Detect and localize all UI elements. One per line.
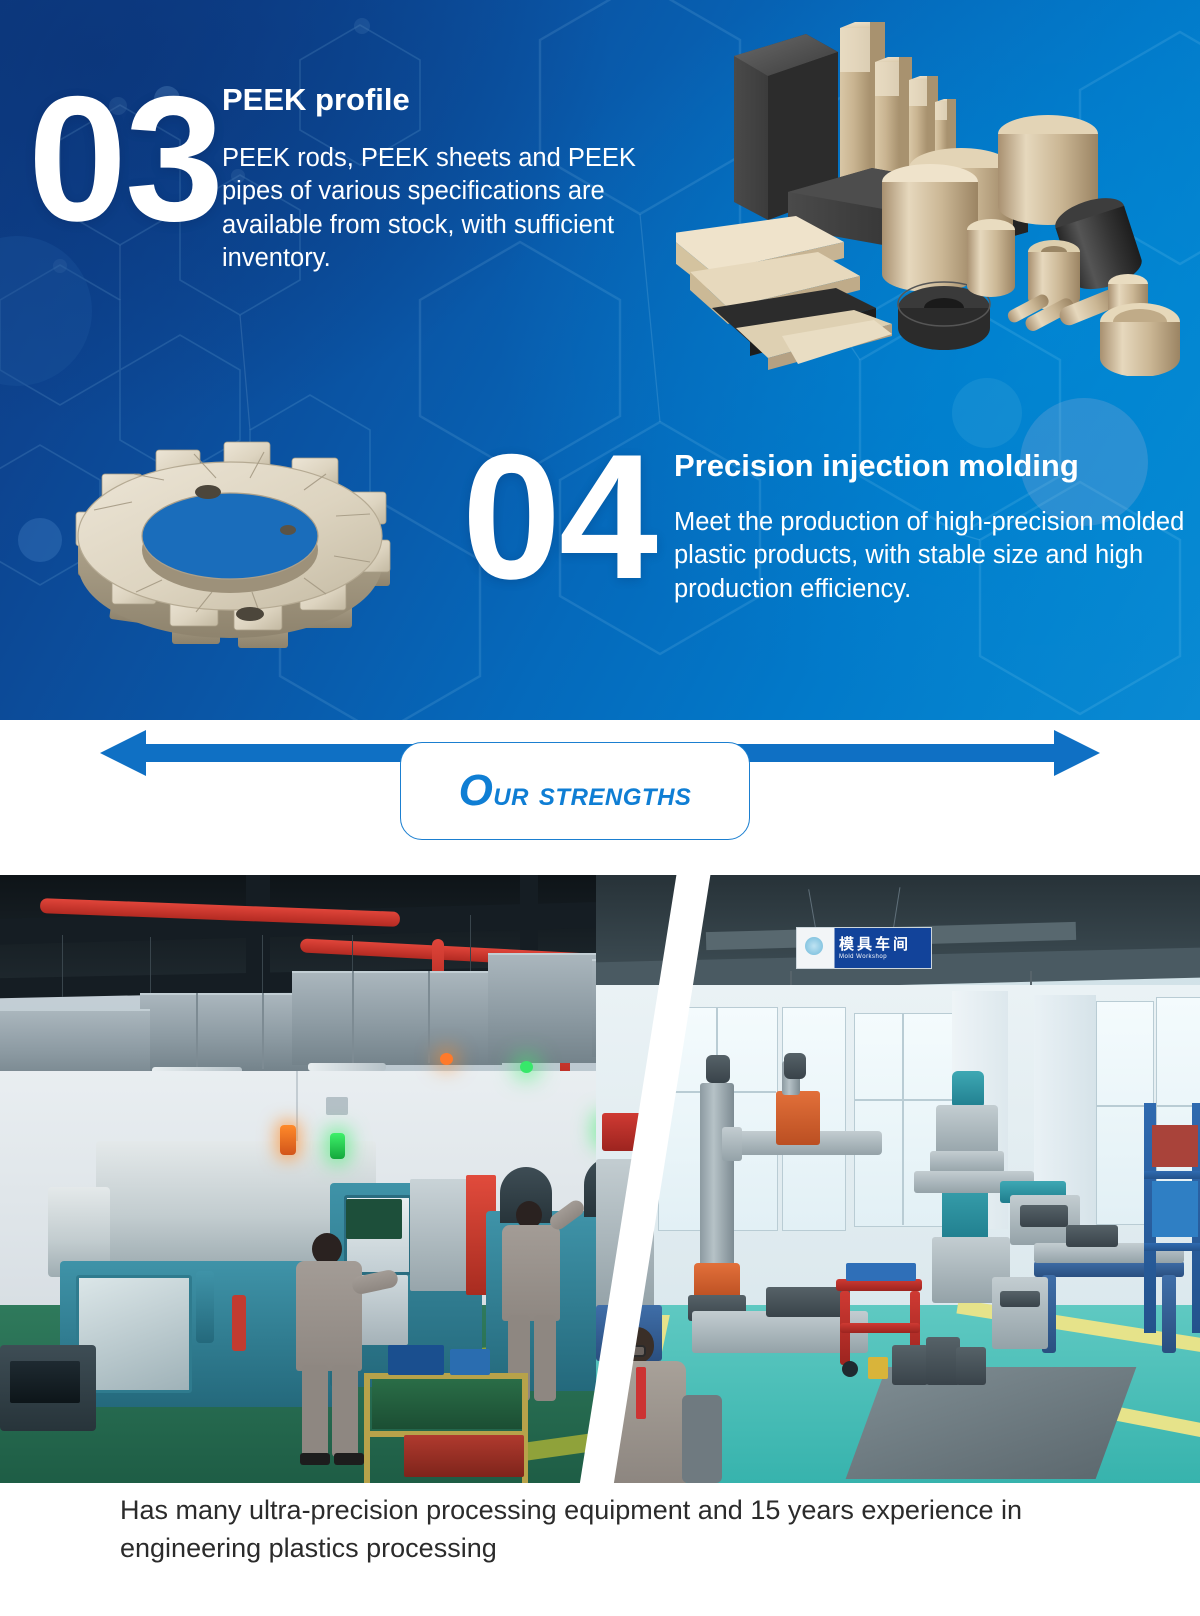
block-body-peek-profile: PEEK rods, PEEK sheets and PEEK pipes of… bbox=[222, 142, 654, 276]
strengths-label: Our strengths bbox=[459, 766, 692, 816]
peek-capability-page: 03 PEEK profile PEEK rods, PEEK sheets a… bbox=[0, 0, 1200, 1616]
sign-text-chinese: 模具车间 bbox=[839, 937, 911, 952]
sign-text-english: Mold Workshop bbox=[839, 954, 911, 960]
block-body-precision-injection-molding: Meet the production of high-precision mo… bbox=[674, 506, 1200, 606]
cnc-machining-workshop-photo bbox=[0, 875, 690, 1483]
hero-blue-section: 03 PEEK profile PEEK rods, PEEK sheets a… bbox=[0, 0, 1200, 720]
block-number-03: 03 bbox=[28, 74, 222, 243]
decor-circle bbox=[0, 236, 92, 386]
page-caption: Has many ultra-precision processing equi… bbox=[0, 1492, 1200, 1568]
peek-stock-profiles-photo bbox=[676, 16, 1200, 376]
mold-workshop-photo: 模具车间 Mold Workshop bbox=[596, 875, 1200, 1483]
block-title-peek-profile: PEEK profile bbox=[222, 82, 410, 118]
strengths-label-box: Our strengths bbox=[400, 742, 750, 840]
factory-photo-strip: 模具车间 Mold Workshop bbox=[0, 875, 1200, 1483]
block-title-precision-injection-molding: Precision injection molding bbox=[674, 448, 1079, 484]
peek-gear-ring-photo bbox=[34, 398, 426, 680]
company-logo-icon bbox=[805, 937, 823, 955]
block-number-04: 04 bbox=[462, 432, 656, 601]
decor-circle bbox=[952, 378, 1022, 448]
mold-workshop-sign: 模具车间 Mold Workshop bbox=[796, 927, 932, 969]
